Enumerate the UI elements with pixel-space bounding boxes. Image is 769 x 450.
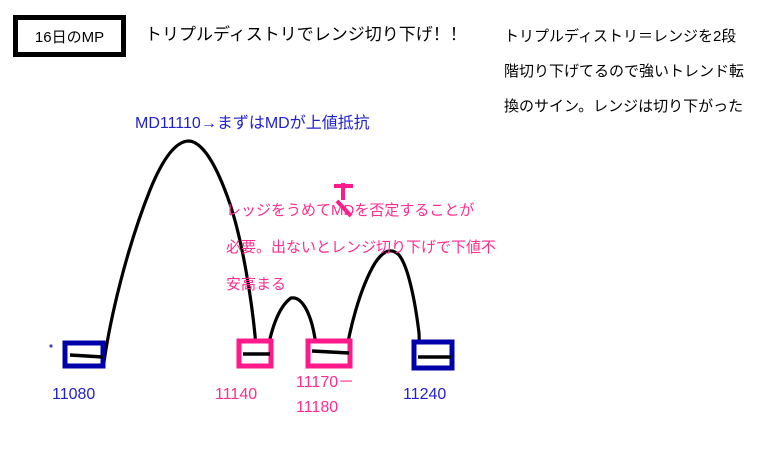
note-line-2: 階切り下げてるので強いトレンド転 — [504, 60, 769, 81]
price-label-11180: 11180 — [296, 399, 338, 417]
pink-line-3: 安高まる — [226, 273, 526, 294]
whiteboard-canvas: 16日のMP トリプルディストリでレンジ切り下げ！！ トリプルディストリ＝レンジ… — [0, 0, 769, 450]
note-line-3: 換のサイン。レンジは切り下がった — [504, 95, 769, 116]
headline-text: トリプルディストリでレンジ切り下げ！！ — [145, 26, 467, 43]
ink-dot-left — [49, 344, 52, 347]
price-box-11080 — [65, 343, 103, 366]
price-box-11140 — [239, 341, 271, 366]
md-annotation-text: MD11110→まずはMDが上値抵抗 — [135, 116, 370, 132]
mp-label-box: 16日のMP — [13, 15, 126, 57]
price-label-11240: 11240 — [403, 386, 446, 404]
pink-line-2: 必要。出ないとレンジ切り下げで下値不 — [226, 236, 526, 257]
pink-annotation-block: レッジをうめてMDを否定することが 必要。出ないとレンジ切り下げで下値不 安高ま… — [226, 199, 526, 310]
price-box-11170-11180 — [308, 341, 350, 366]
pink-line-1: レッジをうめてMDを否定することが — [226, 199, 526, 220]
note-block: トリプルディストリ＝レンジを2段 階切り下げてるので強いトレンド転 換のサイン。… — [504, 25, 769, 130]
price-label-11140: 11140 — [215, 386, 257, 404]
price-box-11240 — [414, 342, 452, 368]
mp-label-text: 16日のMP — [18, 20, 121, 52]
note-line-1: トリプルディストリ＝レンジを2段 — [504, 25, 769, 46]
price-label-11080: 11080 — [52, 386, 95, 404]
price-label-11170: 11170－ — [296, 368, 354, 392]
